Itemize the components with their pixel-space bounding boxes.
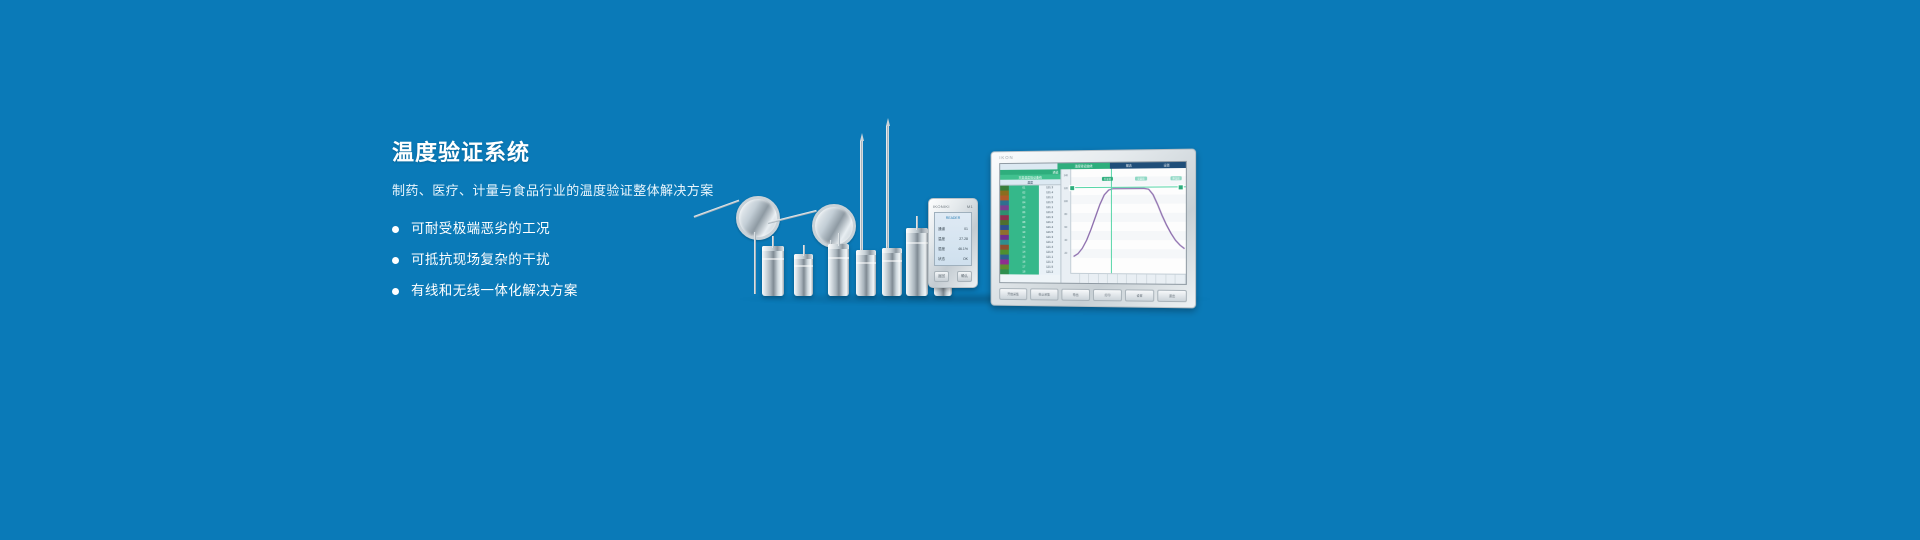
bullet-dot-icon — [392, 226, 399, 233]
data-logger-4 — [856, 250, 876, 296]
x-tick — [1089, 274, 1099, 283]
stop-acquisition-button[interactable]: 停止采集 — [1030, 288, 1058, 300]
monitor-display: IKON 温度验证曲线 报表 设置 通道 灭菌温度验证曲线 温度 01121.3… — [991, 149, 1197, 309]
handheld-row-value: 46.1% — [958, 247, 968, 252]
chart-marker-cooling[interactable]: 降温段 — [1170, 176, 1181, 180]
handheld-row-value: OK — [963, 257, 968, 262]
handheld-display-title: READER — [938, 216, 968, 221]
feature-bullet-label: 有线和无线一体化解决方案 — [411, 282, 578, 300]
needle-probe-short — [860, 140, 863, 262]
x-tick — [1176, 275, 1186, 284]
channel-id-cell: 18 — [1009, 269, 1039, 274]
coil-probe-left — [736, 196, 780, 240]
monitor-screen: 温度验证曲线 报表 设置 通道 灭菌温度验证曲线 温度 01121.302121… — [999, 161, 1187, 285]
x-tick — [1108, 274, 1118, 283]
logger-pin — [772, 236, 774, 248]
handheld-row-2: 温度 27.28 — [938, 237, 968, 242]
logger-band — [906, 242, 928, 244]
handheld-row-3: 湿度 46.1% — [938, 247, 968, 252]
x-tick — [1147, 274, 1157, 283]
channel-value-cell: 121.2 — [1039, 270, 1061, 275]
handheld-row-1: 通道 01 — [938, 227, 968, 232]
coil-probe-right — [812, 204, 856, 248]
x-tick — [1099, 274, 1109, 283]
print-button[interactable]: 打印 — [1093, 289, 1122, 301]
hero-banner: 温度验证系统 制药、医疗、计量与食品行业的温度验证整体解决方案 可耐受极端恶劣的… — [0, 0, 1920, 540]
monitor-button-row: 开始采集 停止采集 导出 打印 设置 退出 — [999, 288, 1187, 302]
table-row[interactable]: 18121.2 — [1000, 269, 1060, 274]
handheld-row-label: 温度 — [938, 237, 945, 242]
handheld-row-value: 27.28 — [959, 237, 968, 242]
chart-curve — [1061, 168, 1185, 284]
logger-cap — [856, 250, 876, 255]
bullet-dot-icon — [392, 257, 399, 264]
handheld-row-label: 通道 — [938, 227, 945, 232]
handheld-model: M1 — [967, 204, 973, 209]
logger-band — [828, 257, 849, 259]
handheld-row-label: 湿度 — [938, 247, 945, 252]
x-tick — [1118, 274, 1128, 283]
channel-table-rows: 01121.302121.403121.204121.505121.106121… — [1000, 185, 1060, 275]
chart-x-axis — [1070, 273, 1186, 284]
handheld-row-4: 状态 OK — [938, 257, 968, 262]
data-logger-2 — [794, 254, 813, 296]
chart-marker-heating[interactable]: 升温段 — [1102, 177, 1113, 181]
chart-cursor-line[interactable] — [1111, 169, 1112, 274]
handheld-row-value: 01 — [964, 227, 968, 232]
data-logger-5 — [882, 248, 902, 296]
logger-pin — [838, 233, 840, 246]
x-tick — [1127, 274, 1137, 283]
feature-bullet-label: 可耐受极端恶劣的工况 — [411, 220, 550, 238]
channel-color-swatch — [1000, 269, 1009, 274]
handheld-brand: IKONIKI — [933, 204, 950, 209]
monitor-brand: IKON — [999, 155, 1013, 160]
exit-button[interactable]: 退出 — [1157, 290, 1187, 303]
handheld-lcd: READER 通道 01 温度 27.28 湿度 46.1% 状态 OK — [934, 212, 972, 266]
logger-band — [794, 265, 813, 267]
software-body: 通道 灭菌温度验证曲线 温度 01121.302121.403121.20412… — [1000, 168, 1186, 284]
data-logger-3 — [828, 244, 849, 296]
probe-stem — [754, 232, 756, 294]
chart-handle-right[interactable] — [1178, 184, 1184, 190]
export-button[interactable]: 导出 — [1061, 289, 1090, 301]
chart-marker-sterilize[interactable]: 灭菌段 — [1135, 177, 1146, 181]
handheld-brand-row: IKONIKI M1 — [933, 203, 973, 210]
probe-coil-icon — [812, 204, 856, 248]
needle-probe-tall — [886, 125, 889, 265]
logger-pin — [916, 216, 918, 230]
x-tick — [1156, 275, 1166, 284]
handheld-row-label: 状态 — [938, 257, 945, 262]
channel-table[interactable]: 通道 灭菌温度验证曲线 温度 01121.302121.403121.20412… — [1000, 169, 1061, 282]
handheld-reader[interactable]: IKONIKI M1 READER 通道 01 温度 27.28 湿度 46.1… — [928, 198, 978, 288]
feature-bullet-label: 可抵抗现场复杂的干扰 — [411, 251, 550, 269]
probe-wire — [694, 200, 740, 218]
x-tick — [1137, 274, 1147, 283]
handheld-back-button[interactable]: 返回 — [934, 271, 949, 282]
start-acquisition-button[interactable]: 开始采集 — [999, 288, 1027, 300]
chart-handle-left[interactable] — [1069, 185, 1075, 191]
settings-button[interactable]: 设置 — [1125, 289, 1154, 301]
data-logger-1 — [762, 246, 784, 296]
logger-band — [882, 260, 902, 262]
x-tick — [1070, 274, 1079, 283]
bullet-dot-icon — [392, 288, 399, 295]
data-logger-6 — [906, 228, 928, 296]
x-tick — [1166, 275, 1176, 284]
logger-band — [856, 262, 876, 264]
handheld-confirm-button[interactable]: 确认 — [957, 271, 972, 282]
logger-pin — [803, 245, 805, 256]
x-tick — [1080, 274, 1089, 283]
probe-coil-icon — [736, 196, 780, 240]
temperature-chart[interactable]: 140 120 100 80 60 40 20 — [1061, 168, 1185, 284]
logger-cap — [882, 248, 902, 253]
handheld-keypad: 返回 确认 — [934, 269, 972, 283]
logger-band — [762, 258, 784, 260]
product-photo-group: IKONIKI M1 READER 通道 01 温度 27.28 湿度 46.1… — [700, 120, 1240, 320]
